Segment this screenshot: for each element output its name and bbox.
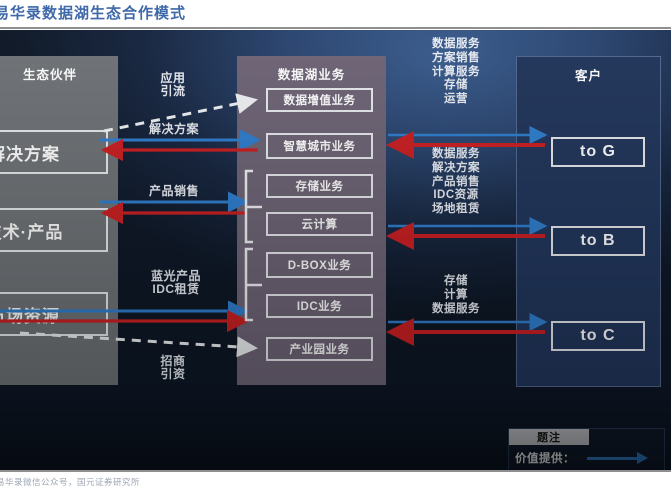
footer-source: 易华录微信公众号，国元证券研究所: [0, 476, 140, 488]
arrow-dashed-application-traffic: [104, 100, 255, 131]
legend-box: 题注 价值提供： 价值回报：: [508, 428, 665, 470]
legend-row-value-provide: 价值提供：: [515, 449, 653, 467]
bracket-storage-cloud: [246, 171, 262, 242]
footer-divider: [0, 470, 671, 472]
title-bar: 易华录数据湖生态合作模式: [0, 0, 671, 28]
footer-bar: 易华录微信公众号，国元证券研究所: [0, 470, 671, 493]
slide-page: 易华录数据湖生态合作模式 生态伙伴 数据湖业务 客户 解决方案 技术·产品 市场…: [0, 0, 671, 493]
legend-title: 题注: [509, 429, 589, 445]
title-divider: [0, 27, 671, 29]
bracket-dbox-idc: [246, 249, 262, 320]
legend-label-value-provide: 价值提供：: [515, 450, 587, 466]
diagram-canvas: 生态伙伴 数据湖业务 客户 解决方案 技术·产品 市场资源 数据增值业务 智慧城…: [0, 30, 671, 470]
arrow-dashed-investment: [20, 333, 255, 348]
page-title: 易华录数据湖生态合作模式: [0, 2, 186, 23]
legend-arrow-blue-icon: [587, 452, 653, 464]
connector-overlay: [0, 30, 671, 470]
